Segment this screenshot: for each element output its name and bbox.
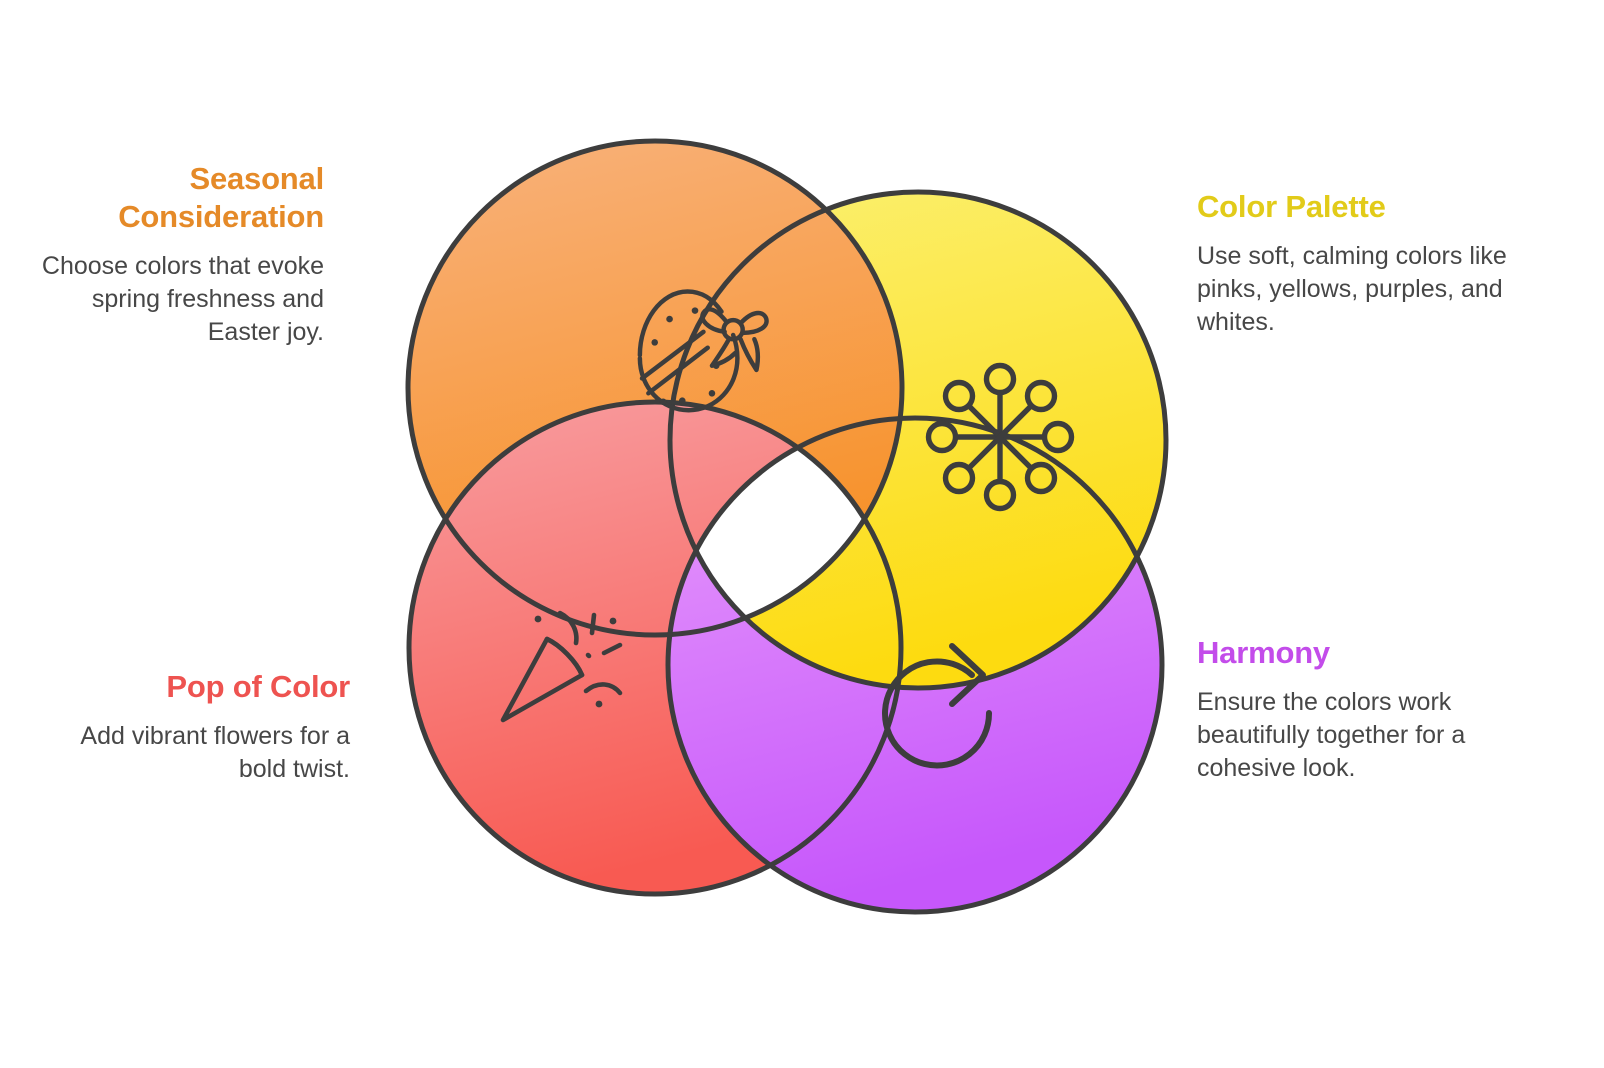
label-block-harmony: Harmony Ensure the colors work beautiful… bbox=[1197, 634, 1507, 785]
infographic-canvas: Seasonal Consideration Choose colors tha… bbox=[0, 0, 1604, 1068]
label-body-palette: Use soft, calming colors like pinks, yel… bbox=[1197, 240, 1507, 339]
label-body-pop: Add vibrant flowers for a bold twist. bbox=[28, 720, 350, 786]
label-body-harmony: Ensure the colors work beautifully toget… bbox=[1197, 686, 1507, 785]
label-title-seasonal: Seasonal Consideration bbox=[28, 160, 324, 236]
venn-diagram bbox=[370, 110, 1190, 940]
label-block-palette: Color Palette Use soft, calming colors l… bbox=[1197, 188, 1507, 339]
label-block-pop: Pop of Color Add vibrant flowers for a b… bbox=[28, 668, 350, 786]
label-title-harmony: Harmony bbox=[1197, 634, 1507, 672]
label-title-pop: Pop of Color bbox=[28, 668, 350, 706]
label-block-seasonal: Seasonal Consideration Choose colors tha… bbox=[28, 160, 324, 349]
label-body-seasonal: Choose colors that evoke spring freshnes… bbox=[28, 250, 324, 349]
label-title-palette: Color Palette bbox=[1197, 188, 1507, 226]
